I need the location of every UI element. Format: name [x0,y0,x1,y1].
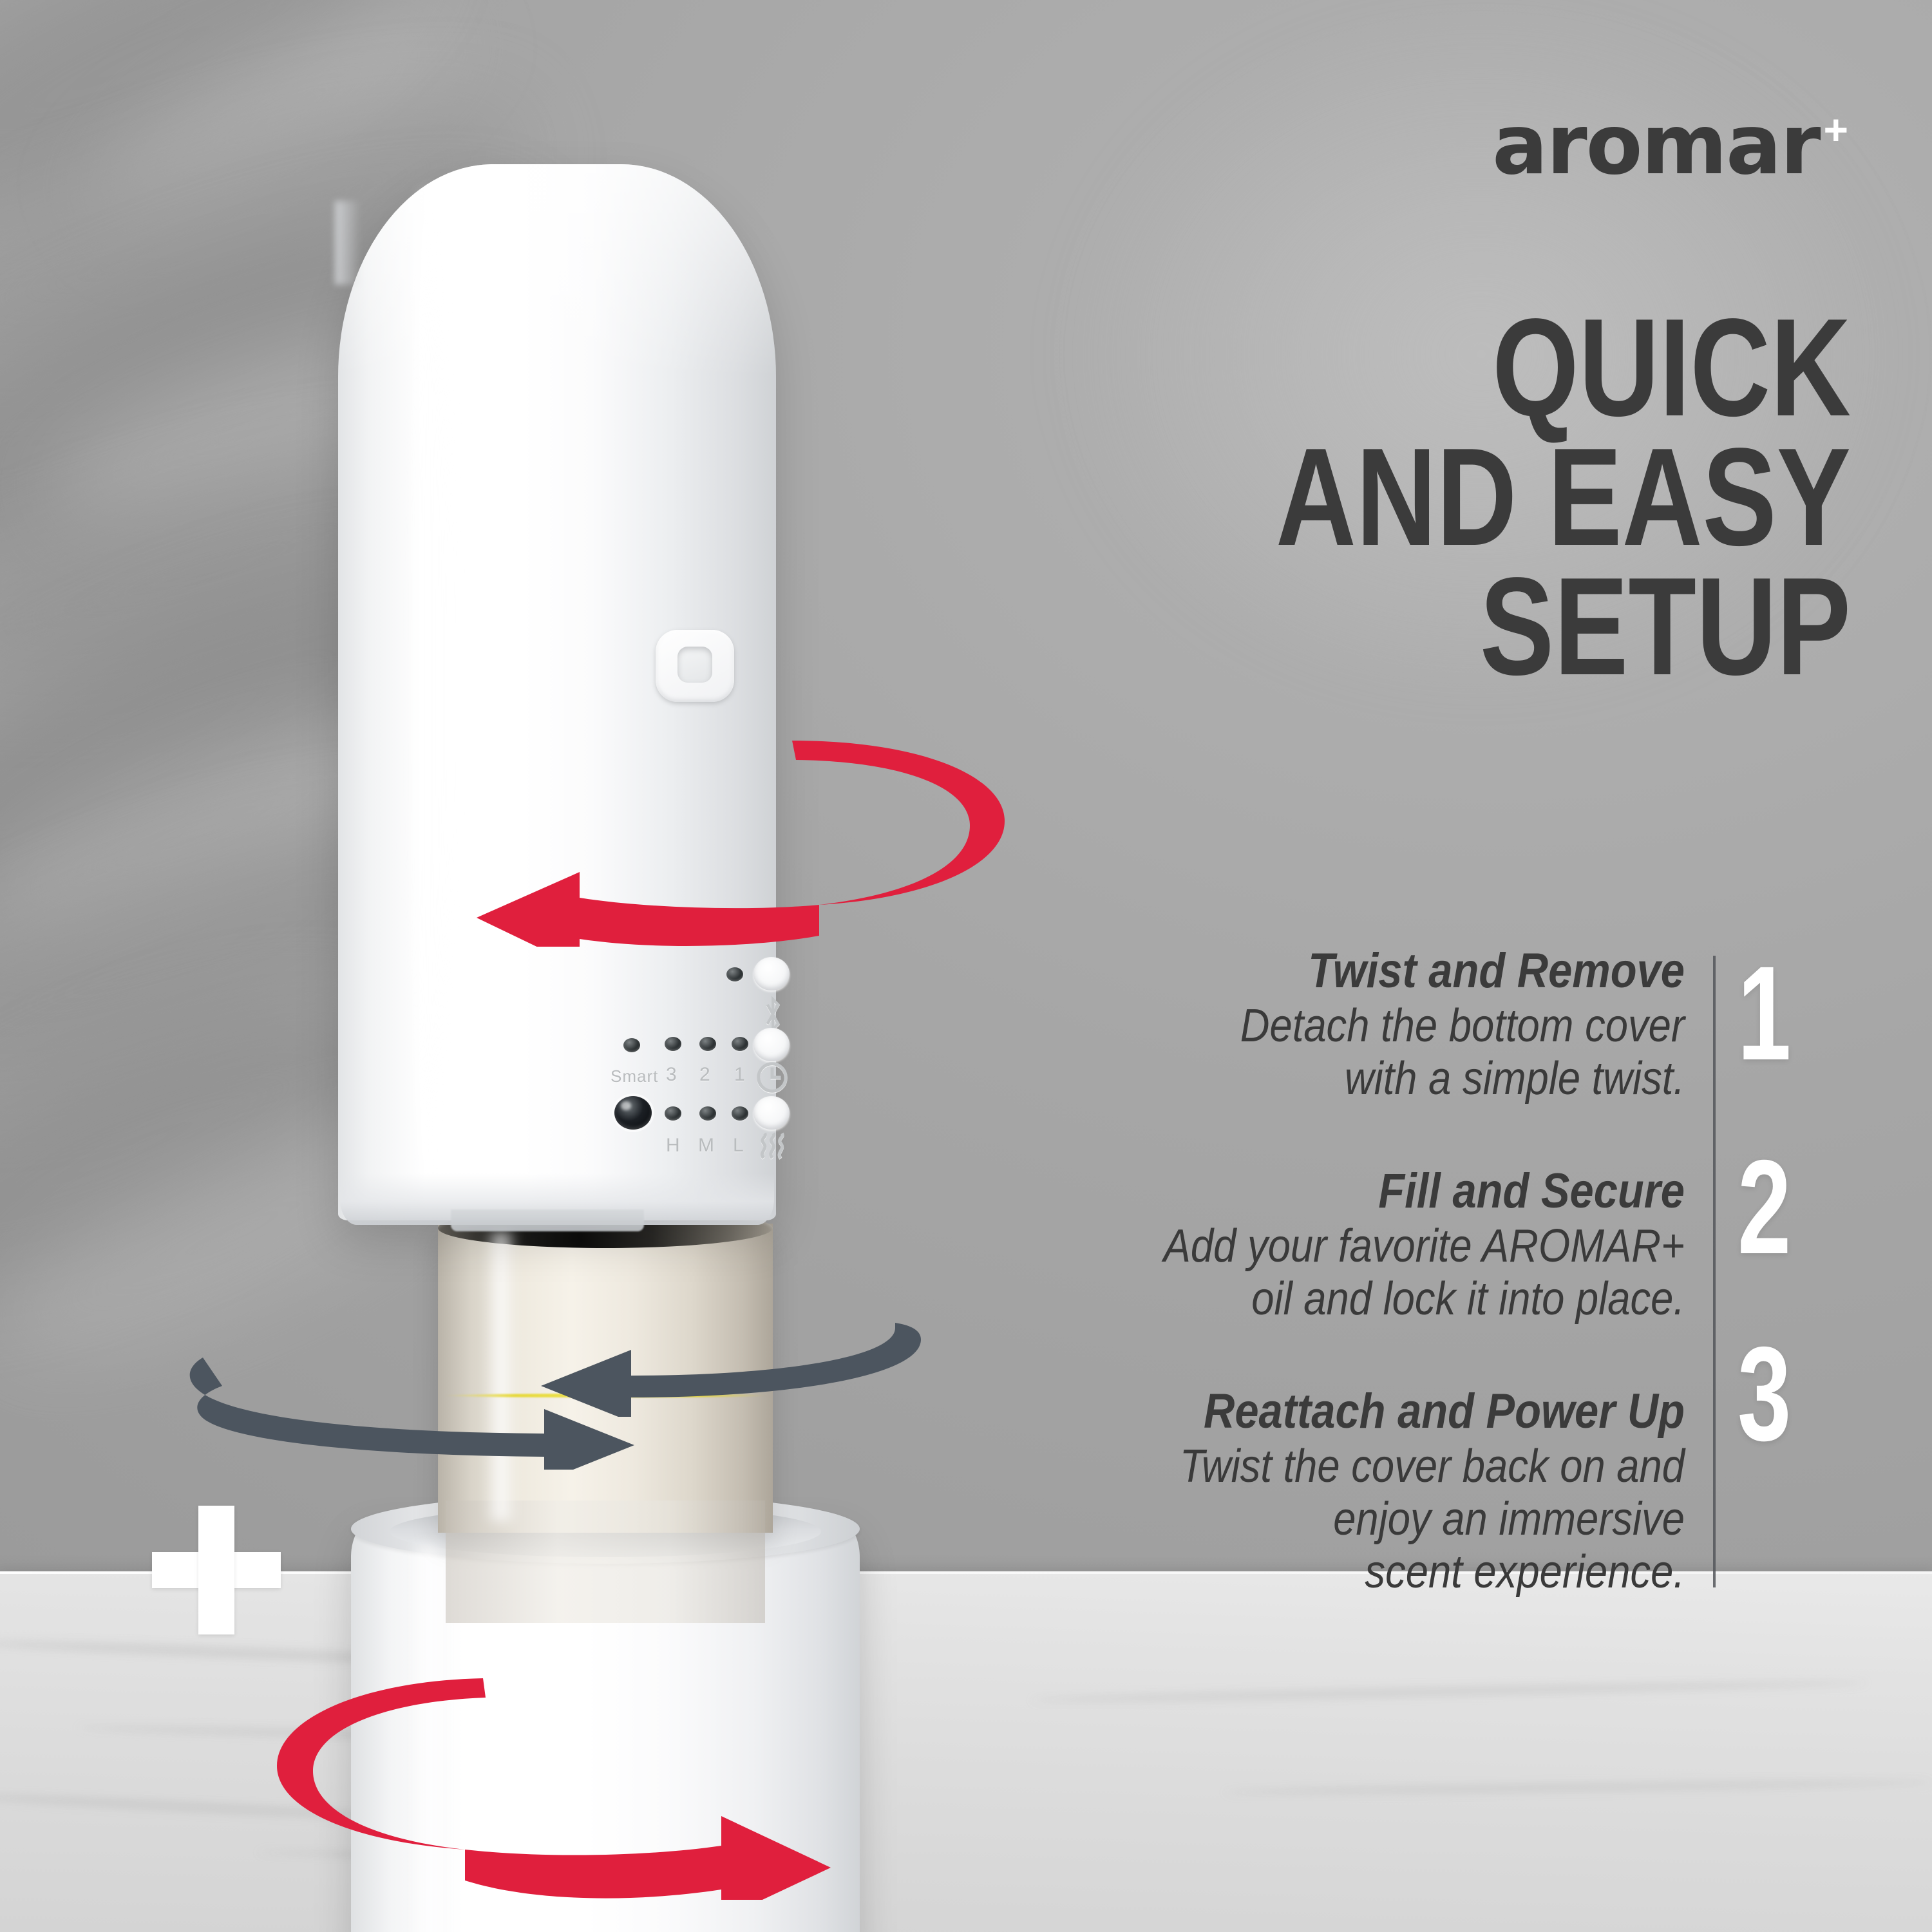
label-m: M [698,1135,715,1157]
step-2-body: Add your favorite AROMAR+ oil and lock i… [1072,1220,1685,1325]
step-2-body-line-1: Add your favorite AROMAR+ [1072,1220,1685,1273]
label-h: H [666,1135,681,1157]
plus-vertical-bar [198,1506,234,1634]
sensor-glint [621,1101,631,1110]
led-h [665,1106,681,1121]
steps-number-column: 1 2 3 [1716,947,1851,1599]
infographic-canvas: Smart 3 2 1 H M L [0,0,1932,1932]
led-m [699,1106,716,1121]
steps-text-column: Twist and Remove Detach the bottom cover… [988,947,1713,1599]
reattach-arrow [213,1655,857,1900]
headline-line-1: QUICK [1166,303,1851,432]
step-3-body: Twist the cover back on and enjoy an imm… [1072,1440,1685,1598]
step-2-title: Fill and Secure [1072,1167,1685,1216]
label-3: 3 [666,1064,677,1086]
step-1-title: Twist and Remove [1072,947,1685,996]
headline-line-3: SETUP [1166,562,1851,691]
aromar-logo: aromar + [1492,104,1848,187]
step-3-body-line-2: enjoy an immersive [1072,1493,1685,1546]
ir-sensor [614,1096,652,1130]
setup-steps-list: Twist and Remove Detach the bottom cover… [988,947,1851,1599]
mist-level-touch-button[interactable] [753,1096,790,1130]
bluetooth-touch-button[interactable] [753,957,790,990]
step-number-slot-2: 2 [1738,1141,1851,1327]
step-3-title: Reattach and Power Up [1072,1387,1685,1436]
steps-divider-line [1713,956,1716,1587]
label-1: 1 [734,1064,746,1086]
led-l [732,1106,748,1121]
led-1 [732,1037,748,1051]
label-2: 2 [699,1064,711,1086]
mist-outlet-inner [677,647,712,683]
timer-touch-button[interactable] [753,1028,790,1061]
device-control-panel: Smart 3 2 1 H M L [599,953,857,1224]
led-3 [665,1037,681,1051]
headline-line-2: AND EASY [1166,432,1851,562]
marble-vein [1224,1779,1932,1795]
step-2-number: 2 [1738,1141,1791,1274]
step-2-body-line-2: oil and lock it into place. [1072,1273,1685,1325]
diffuser-product-photo: Smart 3 2 1 H M L [0,0,966,1932]
label-smart: Smart [611,1066,658,1086]
marble-vein [1030,1678,1868,1704]
mist-outlet-button[interactable] [656,630,734,702]
mist-waves-icon [756,1132,788,1162]
status-led [726,967,743,981]
page-headline: QUICK AND EASY SETUP [1166,303,1851,691]
twist-remove-arrow [386,715,1030,947]
step-3-number: 3 [1738,1327,1791,1461]
label-l: L [733,1135,744,1157]
step-item-3: Reattach and Power Up Twist the cover ba… [988,1387,1685,1598]
step-item-2: Fill and Secure Add your favorite AROMAR… [988,1167,1685,1325]
step-3-body-line-1: Twist the cover back on and [1072,1440,1685,1493]
step-1-number: 1 [1738,947,1791,1081]
cover-side-notch [335,201,361,285]
step-1-body-line-2: with a simple twist. [1072,1052,1685,1105]
step-3-body-line-3: scent experience. [1072,1546,1685,1598]
rotate-right-arrow [184,1347,802,1470]
step-item-1: Twist and Remove Detach the bottom cover… [988,947,1685,1105]
step-number-slot-3: 3 [1738,1327,1851,1521]
logo-wordmark: aromar [1492,104,1819,187]
step-1-body-line-1: Detach the bottom cover [1072,999,1685,1052]
step-1-body: Detach the bottom cover with a simple tw… [1072,999,1685,1105]
timer-clock-icon [755,1060,790,1095]
step-number-slot-1: 1 [1738,947,1851,1141]
led-2 [699,1037,716,1051]
led-smart [623,1038,640,1052]
logo-plus-icon: + [1823,108,1848,151]
brand-plus-mark [152,1506,281,1634]
